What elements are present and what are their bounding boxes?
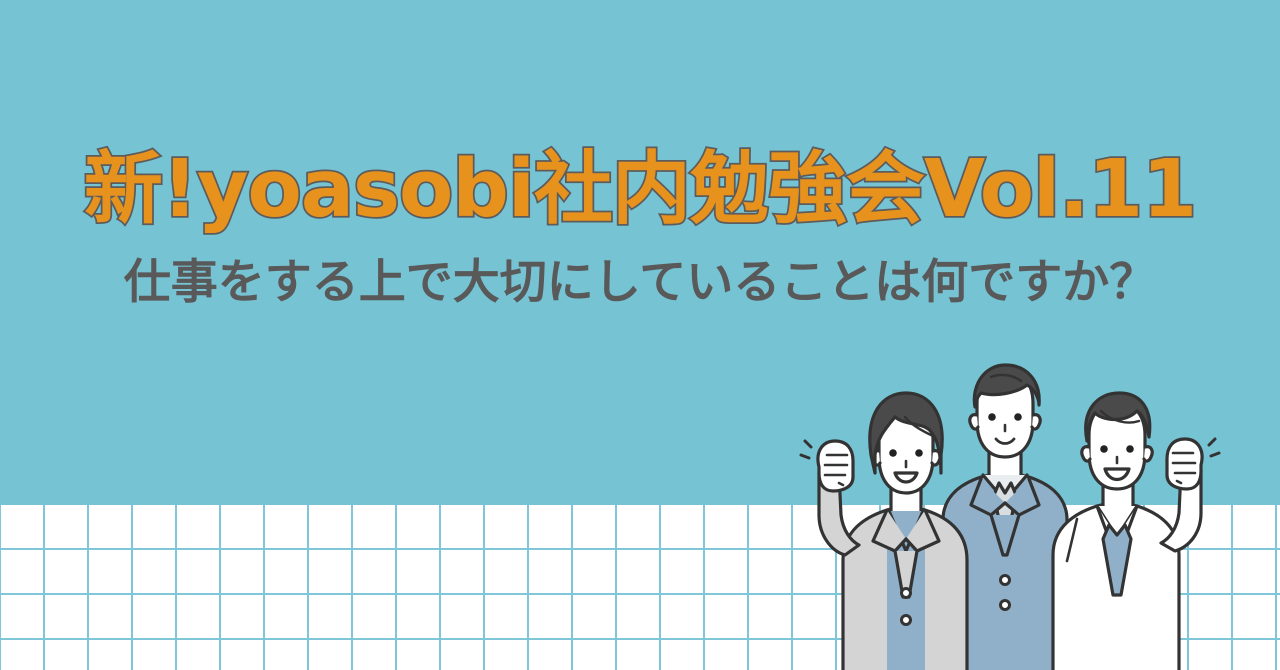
- people-illustration-svg: [795, 355, 1225, 670]
- person-right-white-shirt: [1053, 393, 1219, 670]
- people-illustration: [795, 355, 1225, 670]
- person-left-gray-suit: [801, 393, 967, 670]
- banner-canvas: 新!yoasobi社内勉強会Vol.11 仕事をする上で大切にしていることは何で…: [0, 0, 1280, 670]
